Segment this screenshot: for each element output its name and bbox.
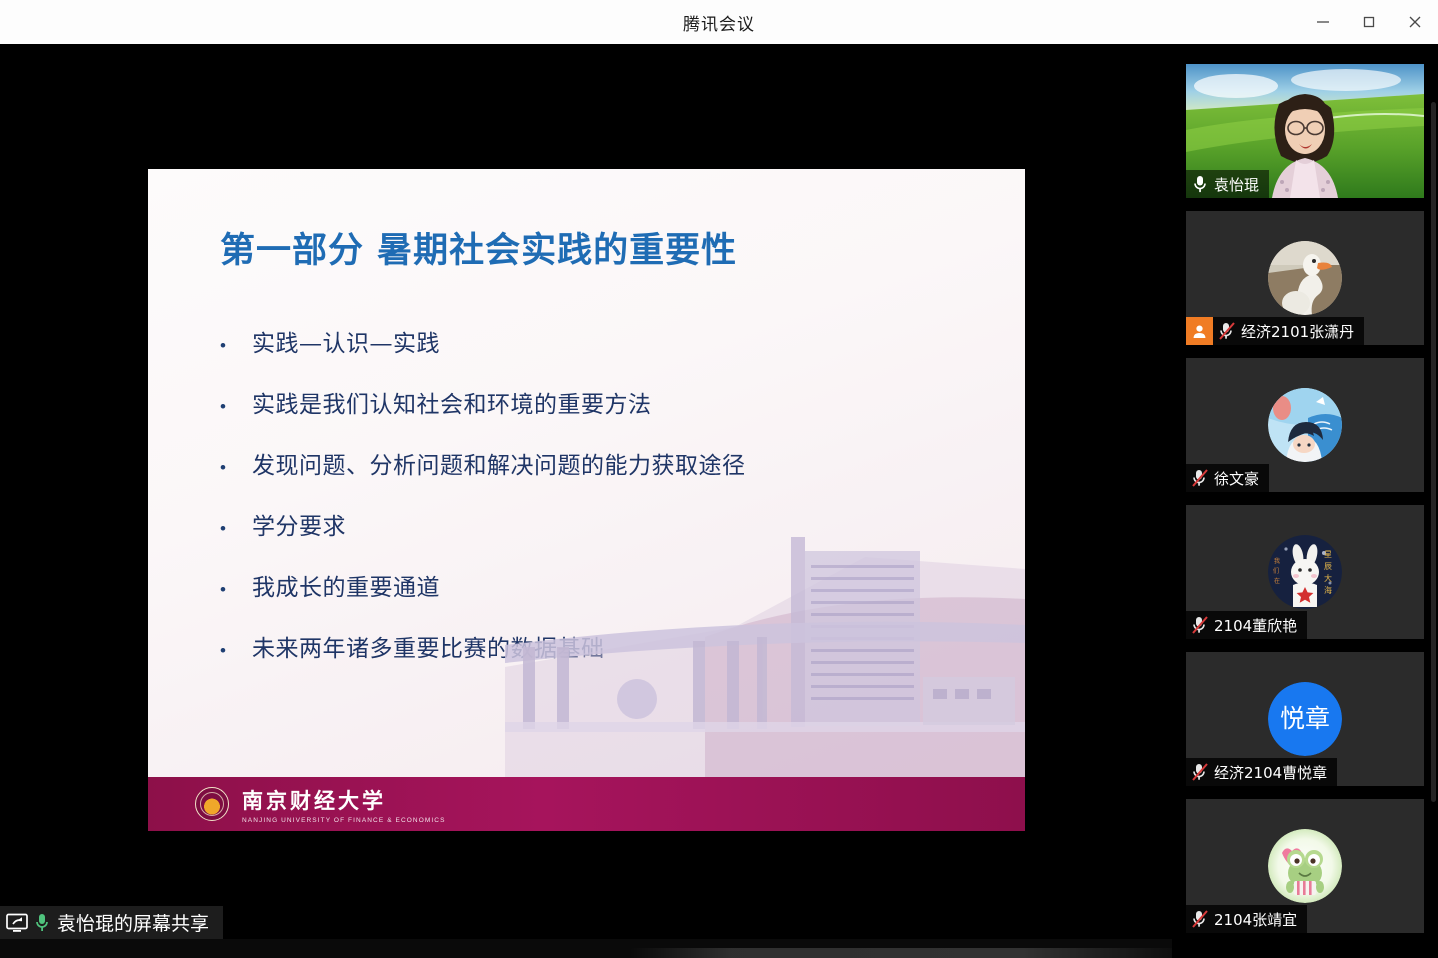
bullet-marker-icon: • — [214, 642, 252, 659]
avatar: 星辰大海 我们在 — [1268, 535, 1342, 609]
close-button[interactable] — [1392, 0, 1438, 44]
participant-name-strip: 2104张靖宜 — [1186, 905, 1307, 933]
list-item: • 发现问题、分析问题和解决问题的能力获取途径 — [214, 446, 974, 507]
list-item: • 未来两年诸多重要比赛的数据基础 — [214, 629, 974, 690]
svg-text:们: 们 — [1273, 567, 1279, 575]
participant-rail[interactable]: 袁怡琨 — [1172, 44, 1438, 958]
screen-share-label: 袁怡琨的屏幕共享 — [57, 909, 209, 936]
host-person-icon — [1186, 317, 1213, 345]
svg-text:大: 大 — [1324, 573, 1332, 583]
bullet-text: 发现问题、分析问题和解决问题的能力获取途径 — [252, 446, 746, 480]
svg-text:辰: 辰 — [1324, 562, 1332, 571]
participant-tile[interactable]: 经济2101张潇丹 — [1186, 211, 1424, 345]
participant-name: 袁怡琨 — [1214, 174, 1259, 195]
bullet-text: 实践是我们认知社会和环境的重要方法 — [252, 385, 652, 419]
mic-off-icon — [1213, 321, 1241, 341]
bullet-marker-icon: • — [214, 520, 252, 537]
avatar — [1268, 388, 1342, 462]
list-item: • 实践是我们认知社会和环境的重要方法 — [214, 385, 974, 446]
participant-tile[interactable]: 徐文豪 — [1186, 358, 1424, 492]
bullet-text: 学分要求 — [252, 507, 346, 541]
mic-on-icon — [1186, 174, 1214, 194]
participant-name: 经济2101张潇丹 — [1241, 321, 1354, 342]
svg-text:我: 我 — [1274, 557, 1280, 565]
shared-screen-stage[interactable]: 第一部分 暑期社会实践的重要性 • 实践—认识—实践 • 实践是我们认知社会和环… — [0, 44, 1172, 958]
avatar — [1268, 829, 1342, 903]
university-seal-icon — [195, 787, 229, 821]
screen-share-indicator: 袁怡琨的屏幕共享 — [0, 906, 223, 939]
participant-name: 2104董欣艳 — [1214, 615, 1297, 636]
university-name-cn: 南京财经大学 — [242, 785, 446, 815]
mic-off-icon — [1186, 615, 1214, 635]
bullet-text: 我成长的重要通道 — [252, 568, 440, 602]
mic-off-icon — [1186, 762, 1214, 782]
list-item: • 学分要求 — [214, 507, 974, 568]
participant-tile[interactable]: 2104张靖宜 — [1186, 799, 1424, 933]
mic-on-icon — [34, 912, 50, 934]
participant-tile[interactable]: 袁怡琨 — [1186, 64, 1424, 198]
mic-off-icon — [1186, 468, 1214, 488]
avatar — [1268, 241, 1342, 315]
participant-name: 经济2104曹悦章 — [1214, 762, 1327, 783]
bullet-marker-icon: • — [214, 398, 252, 415]
maximize-button[interactable] — [1346, 0, 1392, 44]
svg-text:星: 星 — [1324, 550, 1332, 559]
taskbar-ghost-items — [630, 948, 1190, 958]
participant-name-strip: 经济2101张潇丹 — [1186, 317, 1364, 345]
slide-bullet-list: • 实践—认识—实践 • 实践是我们认知社会和环境的重要方法 • 发现问题、分析… — [214, 324, 974, 690]
participant-name-strip: 袁怡琨 — [1186, 170, 1269, 198]
slide-footer: 南京财经大学 NANJING UNIVERSITY OF FINANCE & E… — [148, 777, 1025, 831]
bullet-marker-icon: • — [214, 459, 252, 476]
svg-text:在: 在 — [1274, 577, 1280, 585]
mic-off-icon — [1186, 909, 1214, 929]
participant-name-strip: 经济2104曹悦章 — [1186, 758, 1337, 786]
bullet-text: 未来两年诸多重要比赛的数据基础 — [252, 629, 605, 663]
university-name-en: NANJING UNIVERSITY OF FINANCE & ECONOMIC… — [242, 817, 446, 824]
window-title: 腾讯会议 — [683, 10, 755, 35]
bullet-marker-icon: • — [214, 581, 252, 598]
presentation-slide: 第一部分 暑期社会实践的重要性 • 实践—认识—实践 • 实践是我们认知社会和环… — [148, 169, 1025, 831]
rail-scrollbar[interactable] — [1431, 102, 1436, 802]
screen-share-icon — [6, 913, 28, 933]
list-item: • 我成长的重要通道 — [214, 568, 974, 629]
participant-tile[interactable]: 星辰大海 我们在 2104董欣艳 — [1186, 505, 1424, 639]
participant-name-strip: 2104董欣艳 — [1186, 611, 1307, 639]
avatar-initials: 悦章 — [1280, 704, 1330, 733]
participant-name: 徐文豪 — [1214, 468, 1259, 489]
participant-name-strip: 徐文豪 — [1186, 464, 1269, 492]
participant-name: 2104张靖宜 — [1214, 909, 1297, 930]
bullet-marker-icon: • — [214, 337, 252, 354]
avatar: 悦章 — [1268, 682, 1342, 756]
window-titlebar: 腾讯会议 — [0, 0, 1438, 44]
list-item: • 实践—认识—实践 — [214, 324, 974, 385]
university-name: 南京财经大学 NANJING UNIVERSITY OF FINANCE & E… — [242, 785, 446, 824]
svg-text:海: 海 — [1324, 585, 1332, 595]
minimize-button[interactable] — [1300, 0, 1346, 44]
slide-title: 第一部分 暑期社会实践的重要性 — [220, 222, 737, 273]
participant-tile[interactable]: 悦章 经济2104曹悦章 — [1186, 652, 1424, 786]
desktop-taskbar-sliver — [0, 939, 1172, 958]
bullet-text: 实践—认识—实践 — [252, 324, 440, 358]
window-controls — [1300, 0, 1438, 44]
